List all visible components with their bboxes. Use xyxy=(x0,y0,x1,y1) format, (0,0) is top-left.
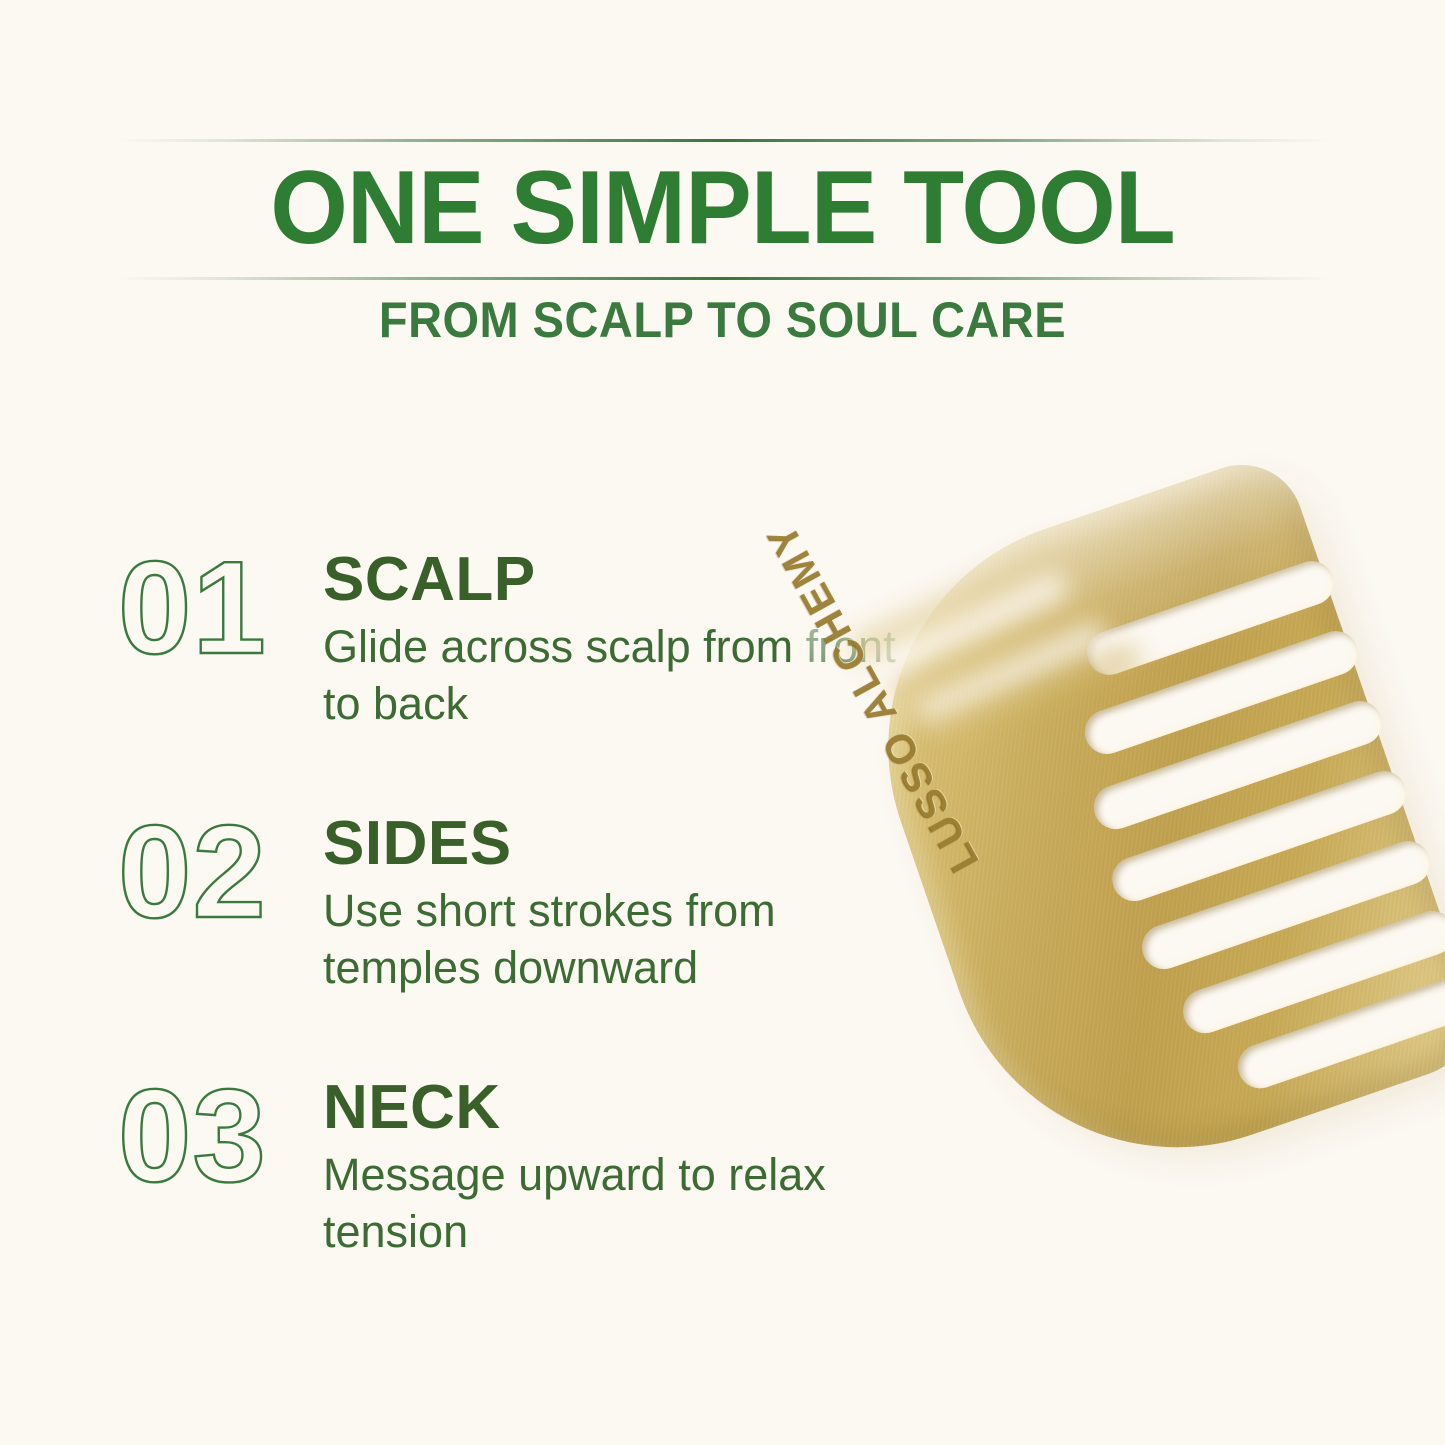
step-item-03: 03 NECK Message upward to relax tension xyxy=(118,1068,958,1260)
page-title: ONE SIMPLE TOOL xyxy=(29,152,1416,264)
comb-shape: LUSSO ALCHEMY xyxy=(826,448,1445,1209)
product-image-gold-comb: LUSSO ALCHEMY xyxy=(880,360,1445,1320)
step-number-01: 01 xyxy=(118,544,323,672)
header-divider-bottom xyxy=(118,277,1330,280)
step-item-02: 02 SIDES Use short strokes from temples … xyxy=(118,804,958,996)
step-number-02: 02 xyxy=(118,808,323,936)
step-description-sides: Use short strokes from temples downward xyxy=(323,882,933,996)
step-description-neck: Message upward to relax tension xyxy=(323,1146,933,1260)
step-number-03: 03 xyxy=(118,1072,323,1200)
header-divider-top xyxy=(118,139,1330,142)
comb-body-slab xyxy=(826,448,1445,1209)
infographic-canvas: ONE SIMPLE TOOL FROM SCALP TO SOUL CARE … xyxy=(0,0,1445,1445)
step-title-neck: NECK xyxy=(323,1076,958,1140)
step-content-03: NECK Message upward to relax tension xyxy=(323,1068,958,1260)
